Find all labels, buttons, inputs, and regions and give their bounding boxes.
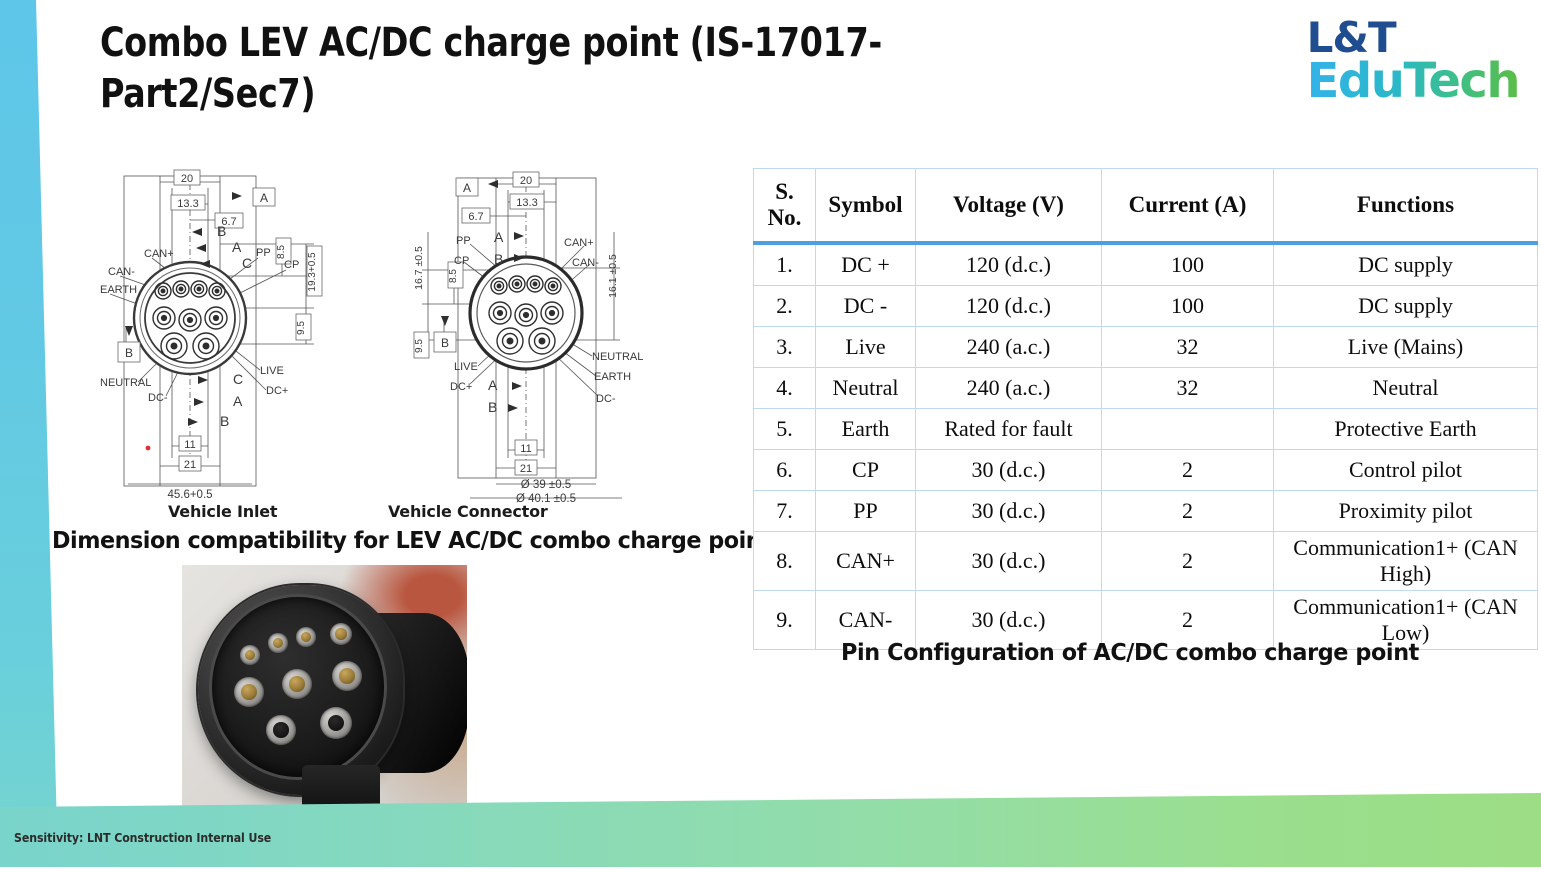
cell-function: Proximity pilot [1274,491,1538,532]
svg-text:PP: PP [256,247,271,259]
svg-text:DC+: DC+ [450,381,472,393]
cell-sno: 1. [754,243,816,286]
svg-text:B: B [217,223,226,239]
svg-text:B: B [441,336,449,350]
svg-text:11: 11 [520,443,531,455]
svg-text:A: A [233,393,243,409]
cell-symbol: PP [816,491,916,532]
logo-lt-text: L&T [1307,18,1519,58]
svg-text:A: A [463,181,471,195]
svg-text:9.5: 9.5 [414,339,425,353]
table-caption: Pin Configuration of AC/DC combo charge … [841,640,1419,666]
svg-text:EARTH: EARTH [594,371,631,383]
photo-pin [240,645,260,665]
svg-text:21: 21 [184,459,196,471]
cell-current: 100 [1102,243,1274,286]
svg-text:LIVE: LIVE [260,365,284,377]
cell-function: Live (Mains) [1274,327,1538,368]
cell-current: 32 [1102,368,1274,409]
photo-pin [332,661,362,691]
table-row: 7. PP 30 (d.c.) 2 Proximity pilot [754,491,1538,532]
svg-text:CAN+: CAN+ [144,248,174,260]
cell-function: Protective Earth [1274,409,1538,450]
cell-voltage: 30 (d.c.) [916,491,1102,532]
cell-function: Neutral [1274,368,1538,409]
photo-pin [320,707,352,739]
table-row: 2. DC - 120 (d.c.) 100 DC supply [754,286,1538,327]
svg-text:CP: CP [284,259,299,271]
cell-sno: 8. [754,532,816,591]
svg-text:20: 20 [520,175,532,187]
cell-voltage: 30 (d.c.) [916,450,1102,491]
svg-text:20: 20 [181,173,193,185]
cell-sno: 3. [754,327,816,368]
svg-text:DC-: DC- [148,392,168,404]
figure-caption: Dimension compatibility for LEV AC/DC co… [52,528,771,554]
table-row: 4. Neutral 240 (a.c.) 32 Neutral [754,368,1538,409]
column-header-current: Current (A) [1102,169,1274,244]
svg-text:PP: PP [456,235,471,247]
cell-current: 2 [1102,532,1274,591]
svg-text:9.5: 9.5 [296,321,307,335]
svg-text:C: C [233,371,243,387]
cell-current: 100 [1102,286,1274,327]
vehicle-connector-drawing: 20 13.3 6.7 A B 16.7 ±0.5 8.5 9.5 16.1 ±… [400,158,700,503]
cell-voltage: 30 (d.c.) [916,532,1102,591]
cell-symbol: Earth [816,409,916,450]
svg-text:C: C [242,255,252,271]
cell-voltage: 120 (d.c.) [916,243,1102,286]
svg-text:Ø 39 ±0.5: Ø 39 ±0.5 [521,479,571,491]
svg-text:13.3: 13.3 [516,197,537,209]
svg-text:A: A [494,229,504,245]
table-row: 5. Earth Rated for fault Protective Eart… [754,409,1538,450]
table-row: 8. CAN+ 30 (d.c.) 2 Communication1+ (CAN… [754,532,1538,591]
svg-text:DC-: DC- [596,393,616,405]
svg-text:CAN-: CAN- [108,266,135,278]
photo-pin [282,669,312,699]
vehicle-inlet-drawing: 20 13.3 6.7 A B 8.5 19.3+0.5 9.5 11 21 [100,158,400,503]
cell-symbol: CAN+ [816,532,916,591]
vehicle-inlet-label: Vehicle Inlet [168,502,277,521]
svg-text:19.3+0.5: 19.3+0.5 [307,252,318,292]
slide-canvas: Combo LEV AC/DC charge point (IS-17017-P… [0,0,1541,871]
cell-function: Control pilot [1274,450,1538,491]
column-header-sno: S. No. [754,169,816,244]
svg-text:CP: CP [454,255,469,267]
svg-text:16.7 ±0.5: 16.7 ±0.5 [413,246,425,290]
cell-function: DC supply [1274,286,1538,327]
page-title: Combo LEV AC/DC charge point (IS-17017-P… [100,18,1077,120]
svg-text:8.5: 8.5 [448,269,459,283]
svg-text:A: A [488,377,498,393]
cell-voltage: 240 (a.c.) [916,368,1102,409]
cell-voltage: Rated for fault [916,409,1102,450]
svg-text:NEUTRAL: NEUTRAL [100,377,151,389]
logo-edutech-text: EduTech [1307,58,1519,104]
table-row: 3. Live 240 (a.c.) 32 Live (Mains) [754,327,1538,368]
header-sno-line1: S. [775,179,794,204]
cell-sno: 2. [754,286,816,327]
photo-pin [330,623,352,645]
cell-function: Communication1+ (CAN High) [1274,532,1538,591]
cell-sno: 5. [754,409,816,450]
svg-text:13.3: 13.3 [177,198,198,210]
column-header-symbol: Symbol [816,169,916,244]
header-sno-line2: No. [768,205,802,230]
cell-sno: 6. [754,450,816,491]
cell-symbol: DC + [816,243,916,286]
svg-text:CAN-: CAN- [572,257,599,269]
cell-current: 2 [1102,491,1274,532]
cell-sno: 9. [754,590,816,649]
svg-text:CAN+: CAN+ [564,237,594,249]
photo-pin [268,633,288,653]
svg-text:LIVE: LIVE [454,361,478,373]
svg-text:A: A [232,239,242,255]
table-row: 6. CP 30 (d.c.) 2 Control pilot [754,450,1538,491]
cell-symbol: DC - [816,286,916,327]
cell-current: 32 [1102,327,1274,368]
column-header-functions: Functions [1274,169,1538,244]
cell-symbol: CP [816,450,916,491]
cell-symbol: Live [816,327,916,368]
connector-photo [182,565,467,820]
svg-text:EARTH: EARTH [100,284,137,296]
cell-voltage: 240 (a.c.) [916,327,1102,368]
photo-pin [234,677,264,707]
photo-pin [296,627,316,647]
technical-drawings: 20 13.3 6.7 A B 8.5 19.3+0.5 9.5 11 21 [100,158,700,503]
svg-text:B: B [125,346,133,360]
cell-current: 2 [1102,450,1274,491]
table-header-row: S. No. Symbol Voltage (V) Current (A) Fu… [754,169,1538,244]
bottom-rule [0,867,1541,871]
cell-function: DC supply [1274,243,1538,286]
svg-text:11: 11 [184,439,195,451]
svg-text:B: B [488,399,497,415]
column-header-voltage: Voltage (V) [916,169,1102,244]
cell-sno: 4. [754,368,816,409]
svg-text:8.5: 8.5 [276,245,287,259]
pin-configuration-table: S. No. Symbol Voltage (V) Current (A) Fu… [753,168,1538,650]
svg-text:A: A [260,191,268,205]
svg-text:21: 21 [520,463,532,475]
cell-sno: 7. [754,491,816,532]
svg-text:NEUTRAL: NEUTRAL [592,351,643,363]
cell-voltage: 120 (d.c.) [916,286,1102,327]
svg-text:DC+: DC+ [266,385,288,397]
svg-text:B: B [494,251,503,267]
table-row: 1. DC + 120 (d.c.) 100 DC supply [754,243,1538,286]
logo: L&T EduTech [1307,18,1519,104]
cell-current [1102,409,1274,450]
cell-symbol: Neutral [816,368,916,409]
left-accent-band [0,0,62,871]
svg-text:45.6+0.5: 45.6+0.5 [167,489,212,501]
svg-text:16.1 ±0.5: 16.1 ±0.5 [607,254,619,298]
sensitivity-label: Sensitivity: LNT Construction Internal U… [14,830,271,845]
svg-text:B: B [220,413,229,429]
svg-text:6.7: 6.7 [468,211,483,223]
photo-pin [266,715,296,745]
vehicle-connector-label: Vehicle Connector [388,502,548,521]
